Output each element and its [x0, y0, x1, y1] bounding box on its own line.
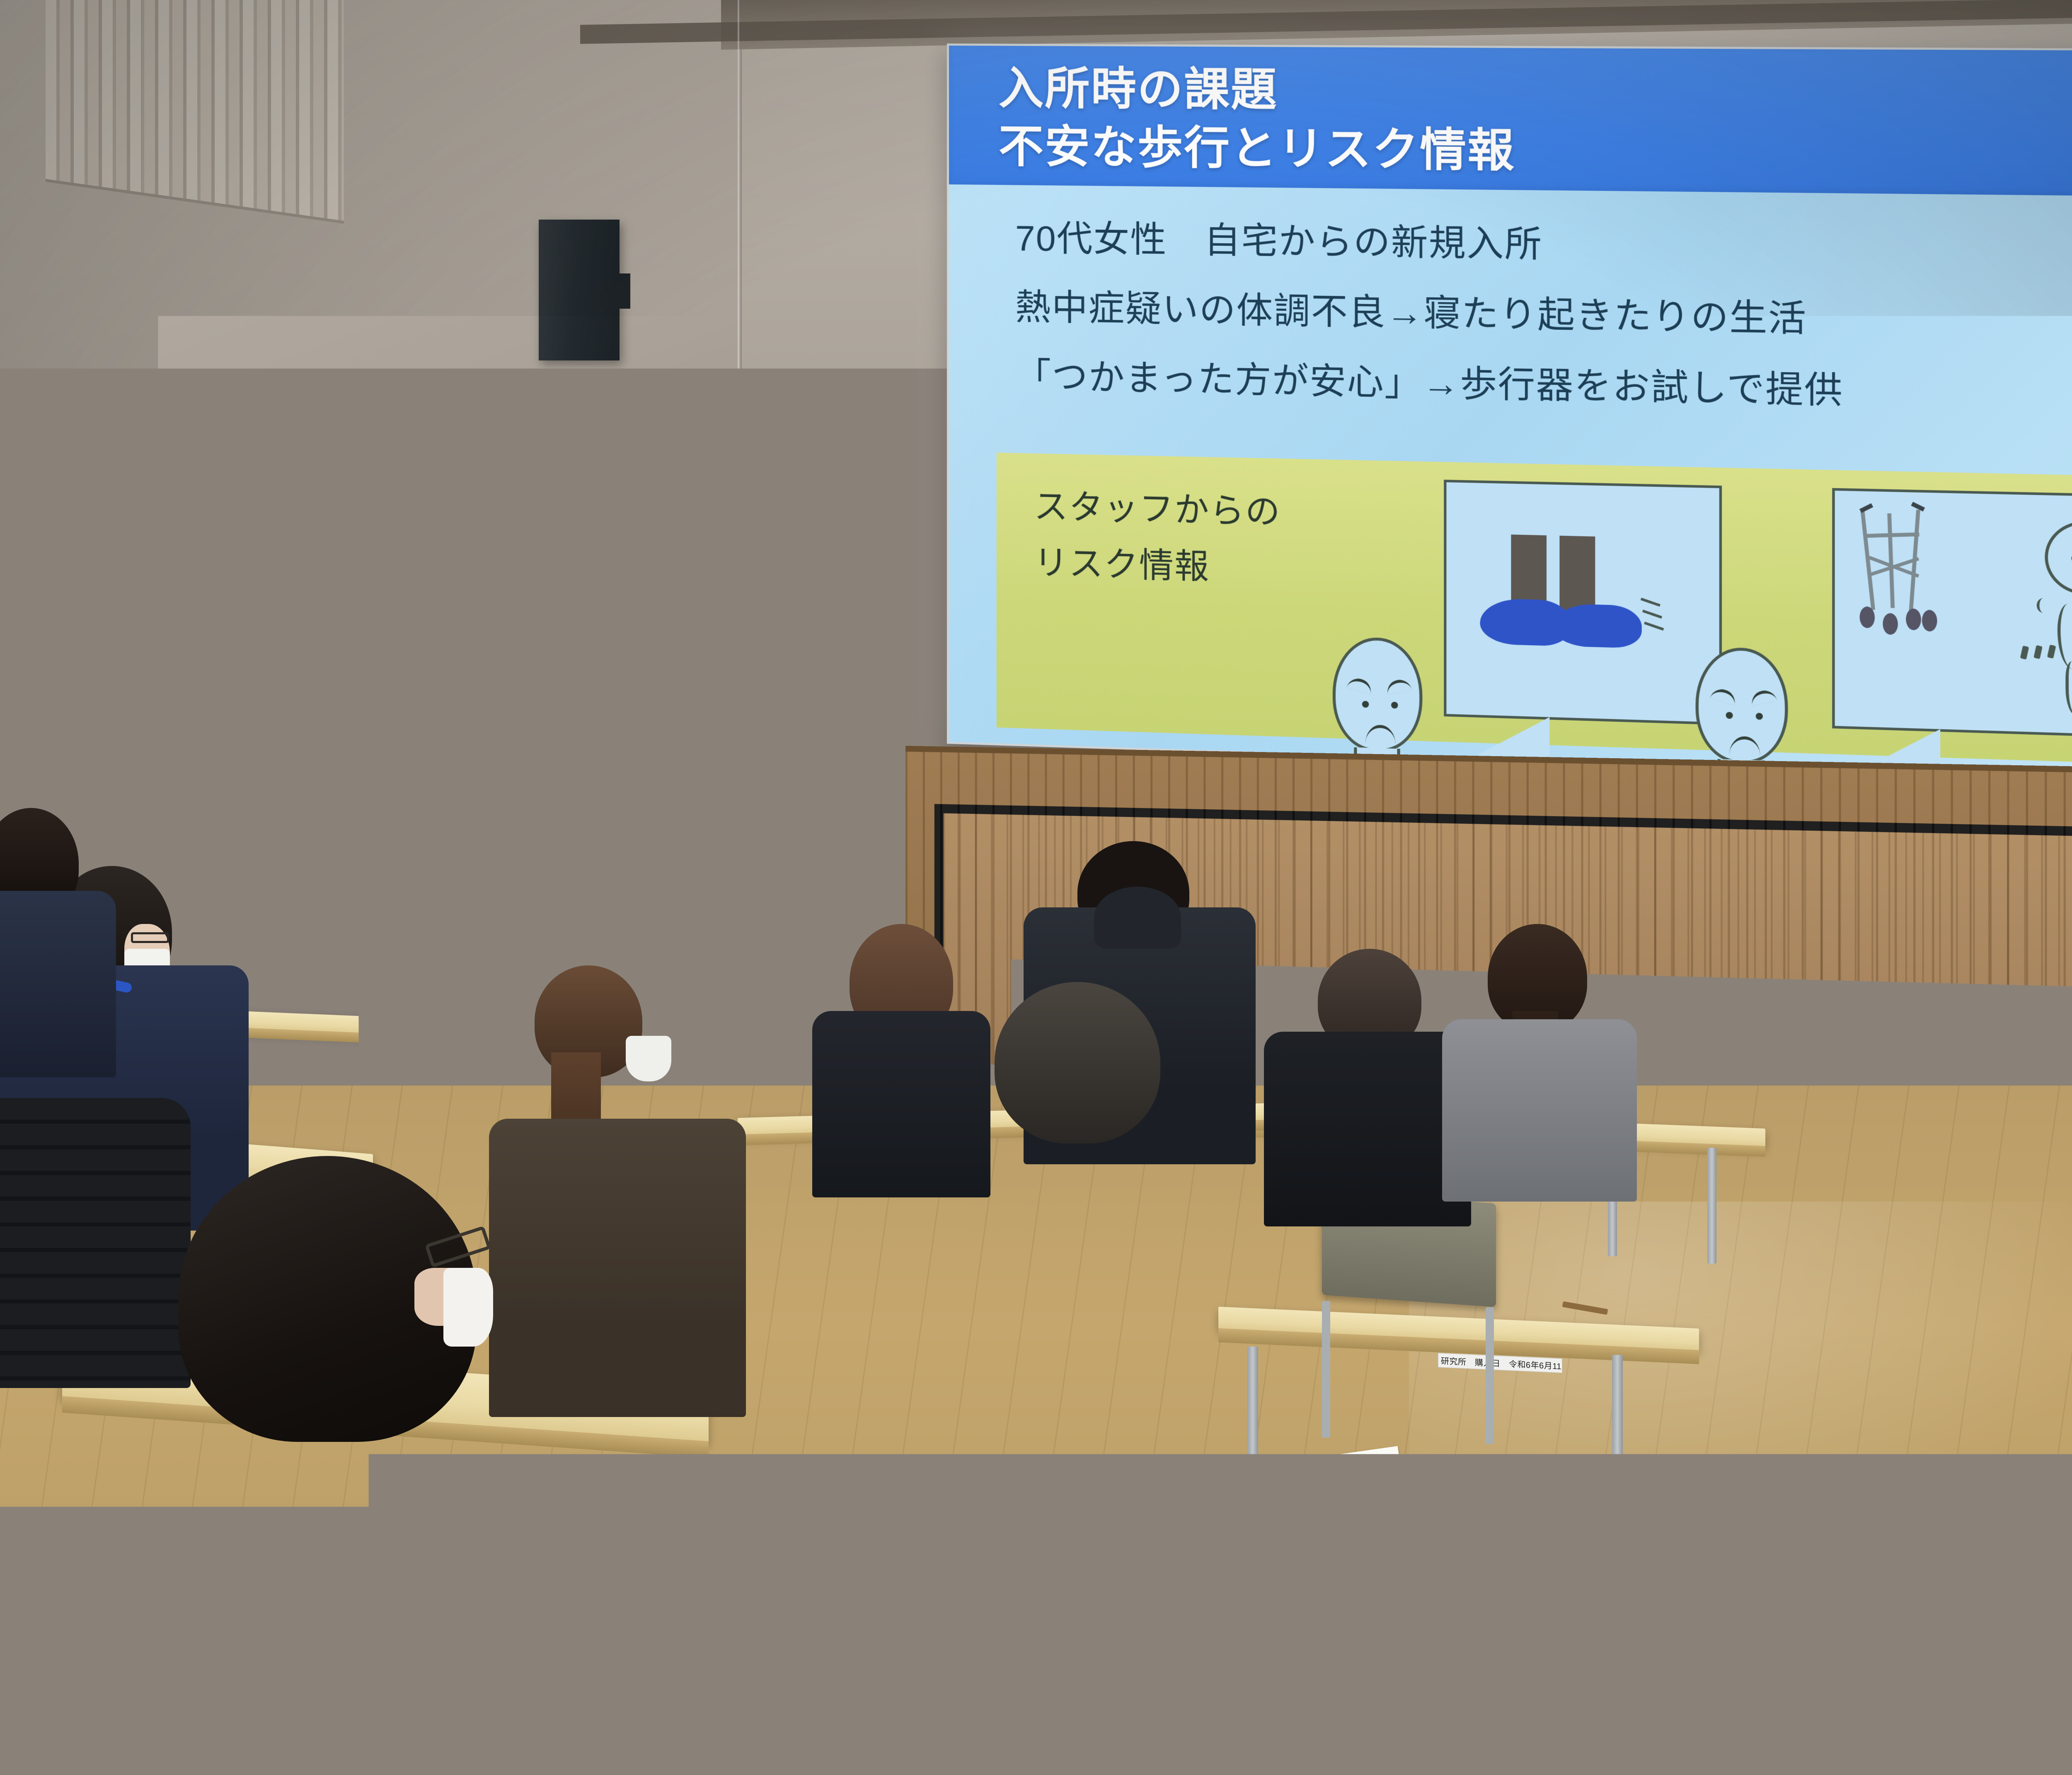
face-mask-icon — [626, 1036, 671, 1081]
slide-body-line-1: 70代女性 自宅からの新規入所 — [1015, 208, 2072, 286]
torso — [489, 1119, 746, 1417]
walker-speech-bubble — [1832, 488, 2072, 740]
slide-body-line-3: 「つかまった方が安心」→歩行器をお試しで提供 — [1015, 346, 2072, 430]
feet-speech-bubble — [1444, 480, 1722, 725]
unsteady-figure-head — [2045, 520, 2072, 596]
backpack-icon — [1571, 1508, 1687, 1645]
risk-info-panel: スタッフからの リスク情報 — [997, 452, 2072, 768]
worried-face-right — [1696, 646, 1788, 764]
water-bottle-cap — [353, 841, 370, 853]
worried-face-left — [1333, 636, 1423, 753]
slide-title: 入所時の課題 不安な歩行とリスク情報 — [999, 59, 1515, 181]
glasses-icon — [131, 932, 169, 943]
unsteady-figure-arm-left — [2057, 604, 2072, 670]
desk-leg — [1707, 1148, 1716, 1264]
motion-line-1 — [1641, 598, 1661, 607]
desk-leg — [1612, 1355, 1623, 1521]
shoe-right-icon — [1553, 603, 1642, 648]
shuffle-mark-2 — [2033, 645, 2043, 659]
slide-body-line-2: 熱中症疑いの体調不良→寝たり起きたりの生活 — [1015, 277, 2072, 358]
slide-body: 70代女性 自宅からの新規入所 熱中症疑いの体調不良→寝たり起きたりの生活 「つ… — [1015, 208, 2072, 438]
shuffle-mark-3 — [2047, 645, 2056, 659]
torso — [1442, 1019, 1637, 1202]
unsteady-figure-leg-left — [2065, 661, 2072, 716]
torso — [0, 891, 116, 1077]
hood — [124, 1409, 530, 1624]
fire-extinguisher-sign: 消火器 — [234, 926, 286, 965]
chair-frame — [1486, 1307, 1494, 1444]
chair-frame — [742, 1715, 753, 1775]
wobble-line-left — [2037, 598, 2050, 613]
lecture-hall-scene: 消火器 入所時の課題 不安な歩行とリスク情報 70代女性 自宅からの新規入所 熱… — [0, 0, 2072, 1775]
torso — [812, 1011, 990, 1197]
motion-line-3 — [1644, 621, 1664, 631]
hood — [1094, 887, 1181, 949]
walker-icon — [1835, 491, 2072, 498]
risk-info-label: スタッフからの リスク情報 — [1034, 479, 1281, 597]
presenter — [427, 688, 609, 920]
chair-back[interactable] — [373, 1007, 535, 1119]
head — [995, 982, 1160, 1144]
face-mask-icon — [443, 1268, 493, 1347]
projection-screen: 入所時の課題 不安な歩行とリスク情報 70代女性 自宅からの新規入所 熱中症疑い… — [947, 44, 2072, 788]
pa-speaker-icon — [539, 220, 620, 360]
hood — [949, 1189, 1247, 1446]
puffer-jacket — [0, 1098, 191, 1388]
wall-seam — [738, 0, 739, 522]
torso — [1264, 1032, 1471, 1226]
motion-line-2 — [1642, 609, 1662, 619]
slide: 入所時の課題 不安な歩行とリスク情報 70代女性 自宅からの新規入所 熱中症疑い… — [949, 46, 2072, 786]
speaker-bracket — [615, 273, 630, 309]
water-bottle-icon — [350, 849, 373, 908]
shuffle-mark-1 — [2020, 646, 2029, 660]
